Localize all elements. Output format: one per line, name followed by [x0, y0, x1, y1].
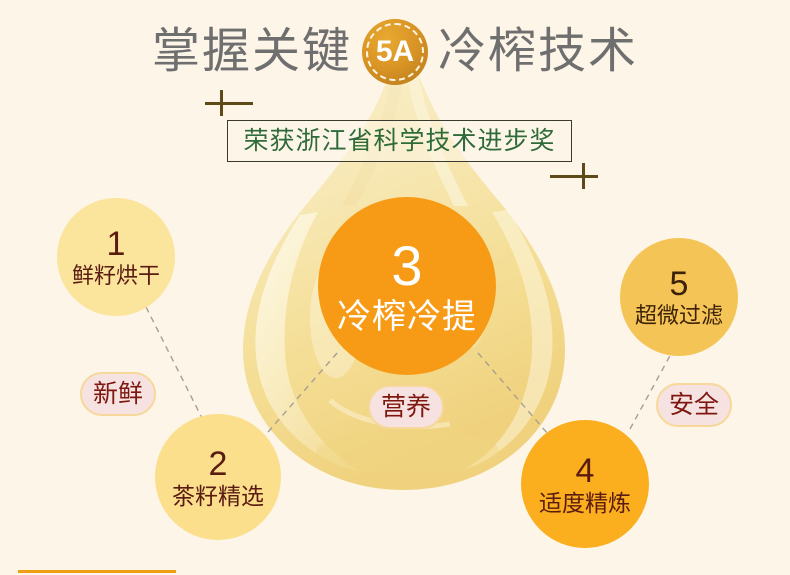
step-2-number: 2	[209, 447, 228, 481]
step-circle-5[interactable]: 5 超微过滤	[620, 238, 738, 356]
connector-1-2	[146, 307, 204, 422]
tag-fresh: 新鲜	[80, 372, 156, 416]
cross-horizontal-bar	[205, 102, 253, 105]
tag-nutrition: 营养	[368, 385, 444, 429]
award-subtitle-text: 荣获浙江省科学技术进步奖	[243, 129, 555, 154]
step-circle-3[interactable]: 3 冷榨冷提	[318, 197, 496, 375]
step-circle-2[interactable]: 2 茶籽精选	[155, 414, 281, 540]
step-3-label: 冷榨冷提	[337, 300, 477, 334]
title-suffix: 冷榨技术	[438, 28, 638, 76]
tag-nutrition-label: 营养	[381, 395, 431, 420]
cross-horizontal-bar	[550, 175, 598, 178]
connector-3-4	[478, 353, 548, 434]
cross-mark-icon	[550, 163, 598, 189]
cross-vertical-bar	[220, 90, 223, 116]
cross-vertical-bar	[582, 163, 585, 189]
badge-5a-label: 5A	[376, 37, 414, 67]
step-1-label: 鲜籽烘干	[72, 265, 160, 287]
tag-safe: 安全	[656, 383, 732, 427]
page-title: 掌握关键 5A 冷榨技术	[0, 16, 790, 88]
step-4-label: 适度精炼	[539, 492, 631, 515]
cross-mark-icon	[205, 90, 253, 116]
connector-2-3	[268, 352, 338, 432]
step-3-number: 3	[391, 238, 422, 294]
title-prefix: 掌握关键	[152, 28, 352, 76]
step-circle-1[interactable]: 1 鲜籽烘干	[57, 198, 175, 316]
step-2-label: 茶籽精选	[172, 485, 264, 508]
badge-5a: 5A	[362, 19, 428, 85]
award-subtitle-box: 荣获浙江省科学技术进步奖	[227, 120, 572, 162]
tag-fresh-label: 新鲜	[93, 382, 143, 407]
bottom-accent-rule	[18, 570, 176, 573]
step-1-number: 1	[107, 227, 126, 261]
tag-safe-label: 安全	[669, 393, 719, 418]
step-5-number: 5	[670, 267, 689, 301]
step-4-number: 4	[576, 454, 595, 488]
step-circle-4[interactable]: 4 适度精炼	[521, 420, 649, 548]
infographic-canvas: 掌握关键 5A 冷榨技术 荣获浙江省科学技术进步奖 1 鲜籽烘干 2 茶籽精选 …	[0, 0, 790, 575]
step-5-label: 超微过滤	[635, 305, 723, 327]
